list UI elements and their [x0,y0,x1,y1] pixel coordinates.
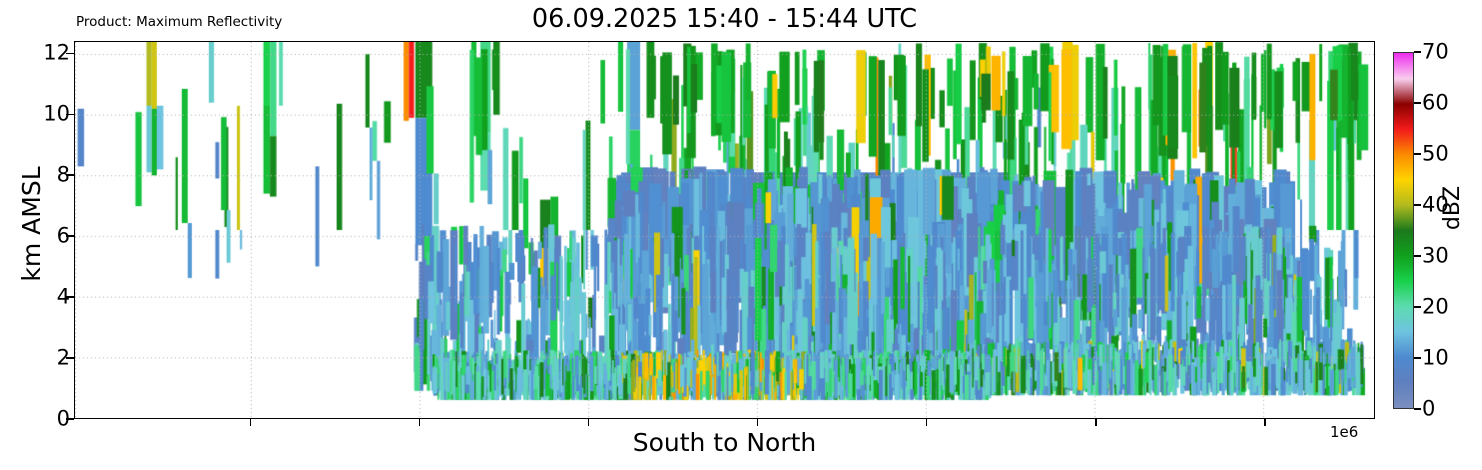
x-tick-mark-4 [757,419,758,426]
colorbar-tick-label-0: 0 [1422,399,1435,420]
y-tick-mark-1 [66,357,74,358]
y-tick-label-6: 12 [22,43,70,64]
x-tick-mark-7 [1264,419,1265,426]
colorbar-tick-mark-3 [1414,255,1421,256]
colorbar-tick-mark-2 [1414,306,1421,307]
colorbar-label: dBZ [1441,153,1465,263]
y-tick-mark-0 [66,418,74,419]
colorbar-tick-label-6: 60 [1422,93,1449,114]
reflectivity-raster [75,42,1374,418]
colorbar-tick-label-1: 10 [1422,348,1449,369]
x-tick-mark-2 [419,419,420,426]
x-tick-mark-1 [250,419,251,426]
y-tick-mark-3 [66,235,74,236]
colorbar-tick-mark-4 [1414,204,1421,205]
product-annotation: Product: Maximum Reflectivity [76,14,282,30]
colorbar-tick-mark-7 [1414,51,1421,52]
y-tick-label-5: 10 [22,104,70,125]
y-tick-label-3: 6 [22,226,70,247]
y-tick-label-2: 4 [22,287,70,308]
x-axis-label: South to North [74,428,1375,458]
colorbar-tick-label-2: 20 [1422,297,1449,318]
plot-area[interactable] [74,41,1375,419]
x-axis-offset-text: 1e6 [1330,423,1358,441]
y-tick-label-1: 2 [22,348,70,369]
y-tick-label-4: 8 [22,165,70,186]
colorbar-tick-mark-5 [1414,153,1421,154]
colorbar-tick-label-7: 70 [1422,42,1449,63]
y-tick-mark-4 [66,174,74,175]
colorbar-tick-mark-6 [1414,102,1421,103]
x-tick-mark-5 [926,419,927,426]
colorbar-gradient [1394,53,1413,408]
colorbar-tick-mark-0 [1414,408,1421,409]
x-tick-mark-3 [588,419,589,426]
colorbar[interactable] [1393,52,1414,409]
y-tick-mark-5 [66,114,74,115]
y-tick-mark-2 [66,296,74,297]
y-tick-label-0: 0 [22,409,70,430]
radar-cross-section-figure: 06.09.2025 15:40 - 15:44 UTC Product: Ma… [0,0,1482,470]
colorbar-tick-mark-1 [1414,357,1421,358]
x-tick-mark-6 [1095,419,1096,426]
y-tick-mark-6 [66,53,74,54]
